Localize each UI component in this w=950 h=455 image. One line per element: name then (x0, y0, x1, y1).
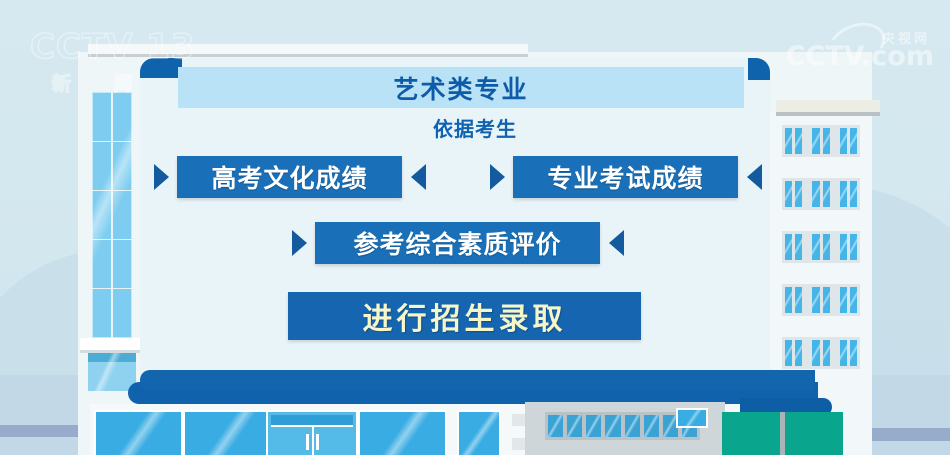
ground-floor-window (96, 412, 181, 455)
criteria-box-major-exam-score: 专业考试成绩 (513, 156, 738, 198)
triangle-right-icon (154, 164, 169, 190)
triangle-left-icon (609, 230, 624, 256)
window-row (782, 284, 860, 316)
building-entrance-door (268, 412, 356, 455)
triangle-right-icon (292, 230, 307, 256)
broadcast-screenshot: 艺术类专业 依据考生 高考文化成绩 专业考试成绩 参考综合素质评价 进行招生录取… (0, 0, 950, 455)
graphic-title-bar: 艺术类专业 (178, 67, 744, 108)
reference-box-comprehensive-evaluation: 参考综合素质评价 (315, 222, 600, 264)
window-row (782, 178, 860, 210)
panel-bottom-bar (140, 370, 815, 390)
triangle-left-icon (411, 164, 426, 190)
ground-floor-window (678, 410, 706, 426)
lower-glass-panel (88, 353, 136, 391)
window-row (782, 337, 860, 369)
ground-floor-window (459, 412, 499, 455)
ground-floor-window (185, 412, 270, 455)
graphic-title: 艺术类专业 (393, 70, 528, 106)
outcome-box-admission: 进行招生录取 (288, 292, 641, 340)
triangle-left-icon (747, 164, 762, 190)
window-row (782, 231, 860, 263)
teal-panel (785, 412, 843, 455)
building-ledge (80, 338, 142, 353)
criteria-box-culture-score: 高考文化成绩 (177, 156, 402, 198)
graphic-subtitle: 依据考生 (0, 113, 950, 142)
ground-floor-window (360, 412, 445, 455)
annex-window-strip (545, 412, 700, 440)
building-roof-cap (88, 44, 528, 57)
teal-panel (722, 412, 780, 455)
panel-corner-accent-topleft (140, 58, 182, 78)
triangle-right-icon (490, 164, 505, 190)
